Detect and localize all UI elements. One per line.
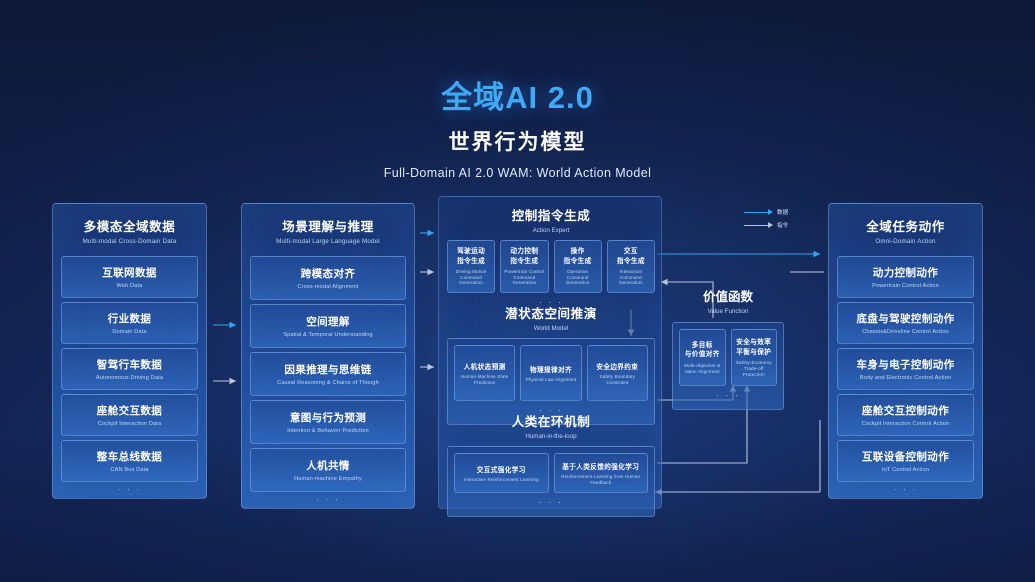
- card-subtitle: IoT Control Action: [882, 467, 929, 474]
- gray-arrow-icon: [744, 225, 772, 226]
- panel-header: 多模态全域数据 Multi-modal Cross-Domain Data: [53, 204, 206, 245]
- card-title: 整车总线数据: [97, 449, 162, 464]
- list-item[interactable]: 交互式强化学习 Interactive Reinforcement Learni…: [454, 453, 549, 493]
- list-item[interactable]: 操作 指令生成 Operation Command Generation: [554, 240, 602, 293]
- legend-item-instruction: 指令: [744, 221, 788, 229]
- value-function-box: 多目标 与价值对齐 Multi-objective & Value Alignm…: [672, 322, 784, 410]
- more-indicator: · · ·: [454, 498, 648, 507]
- card-title: 物理规律对齐: [530, 364, 572, 374]
- card-subtitle: Body and Electronic Control Action: [860, 375, 951, 382]
- block-subtitle: Human-in-the-loop: [447, 433, 655, 440]
- legend-item-data: 数据: [744, 208, 788, 216]
- list-item[interactable]: 车身与电子控制动作 Body and Electronic Control Ac…: [837, 348, 974, 390]
- card-subtitle: Safety-Economy Trade-off Protection: [734, 360, 775, 377]
- card-title: 交互式强化学习: [477, 464, 526, 474]
- card-title: 行业数据: [108, 311, 152, 326]
- more-indicator: · · ·: [242, 495, 414, 504]
- card-subtitle: Multi-objective & Value Alignment: [682, 363, 723, 374]
- card-subtitle: Interaction Command Generation: [610, 269, 652, 286]
- card-subtitle: Autonomous Driving Data: [96, 375, 163, 382]
- more-indicator: · · ·: [53, 485, 206, 494]
- data-card-list: 互联网数据 Web Data 行业数据 Domain Data 智驾行车数据 A…: [61, 256, 198, 482]
- card-subtitle: Spatial & Temporal Understanding: [283, 332, 373, 339]
- list-item[interactable]: 意图与行为预测 Intention & Behavior Prediction: [250, 400, 406, 444]
- block-title: 控制指令生成: [447, 205, 655, 224]
- card-subtitle: Cross-modal Alignment: [298, 284, 359, 291]
- list-item[interactable]: 安全与效率 平衡与保护 Safety-Economy Trade-off Pro…: [731, 329, 778, 386]
- list-item[interactable]: 人机状态预测 Human-Machine State Prediction: [454, 345, 515, 401]
- more-indicator: · · ·: [679, 391, 777, 400]
- action-card-list: 动力控制动作 Powertrain Control Action 底盘与驾驶控制…: [837, 256, 974, 482]
- card-subtitle: Domain Data: [112, 329, 146, 336]
- legend-label: 数据: [777, 208, 788, 216]
- list-item[interactable]: 座舱交互控制动作 Cockpit Interaction Control Act…: [837, 394, 974, 436]
- card-title: 操作 指令生成: [564, 247, 592, 266]
- card-title: 座舱交互数据: [97, 403, 162, 418]
- card-subtitle: Operation Command Generation: [557, 269, 599, 286]
- card-title: 座舱交互控制动作: [862, 403, 949, 418]
- more-indicator: · · ·: [829, 485, 982, 494]
- card-subtitle: Cockpit Interaction Control Action: [862, 421, 950, 428]
- block-subtitle: Action Expert: [447, 227, 655, 234]
- list-item[interactable]: 物理规律对齐 Physical Law Alignment: [520, 345, 581, 401]
- card-title: 基于人类反馈的强化学习: [562, 461, 639, 471]
- card-title: 动力控制动作: [873, 265, 938, 280]
- panel-multimodal-data: 多模态全域数据 Multi-modal Cross-Domain Data 互联…: [52, 203, 207, 499]
- card-subtitle: Driving Motion Command Generation: [450, 269, 492, 286]
- panel-header: 全域任务动作 Omni-Domain Action: [829, 204, 982, 245]
- card-subtitle: Reinforcement Learning from Human Feedba…: [557, 474, 646, 485]
- action-expert-cards: 驾驶运动 指令生成 Driving Motion Command Generat…: [447, 240, 655, 293]
- page-subtitle: 世界行为模型: [0, 126, 1035, 156]
- card-title: 互联网数据: [102, 265, 157, 280]
- title-block: 全域AI 2.0 世界行为模型 Full-Domain AI 2.0 WAM: …: [0, 72, 1035, 180]
- list-item[interactable]: 人机共情 Human-machine Empathy: [250, 448, 406, 492]
- card-title: 交互 指令生成: [617, 247, 645, 266]
- card-subtitle: Powertrain Control Action: [872, 283, 939, 290]
- list-item[interactable]: 动力控制动作 Powertrain Control Action: [837, 256, 974, 298]
- mllm-card-list: 跨模态对齐 Cross-modal Alignment 空间理解 Spatial…: [250, 256, 406, 492]
- card-title: 因果推理与思维链: [284, 362, 371, 377]
- legend-label: 指令: [777, 221, 788, 229]
- block-subtitle: World Model: [447, 325, 655, 332]
- list-item[interactable]: 动力控制 指令生成 Powertrain Control Command Gen…: [500, 240, 548, 293]
- human-loop-cards: 交互式强化学习 Interactive Reinforcement Learni…: [454, 453, 648, 493]
- card-title: 车身与电子控制动作: [856, 357, 954, 372]
- list-item[interactable]: 智驾行车数据 Autonomous Driving Data: [61, 348, 198, 390]
- card-subtitle: Powertrain Control Command Generation: [503, 269, 545, 286]
- panel-scene-understanding: 场景理解与推理 Multi-modal Large Language Model…: [241, 203, 415, 509]
- card-subtitle: Human-machine Empathy: [294, 476, 362, 483]
- blue-arrow-icon: [744, 212, 772, 213]
- list-item[interactable]: 驾驶运动 指令生成 Driving Motion Command Generat…: [447, 240, 495, 293]
- list-item[interactable]: 基于人类反馈的强化学习 Reinforcement Learning from …: [554, 453, 649, 493]
- panel-title: 场景理解与推理: [242, 216, 414, 235]
- block-human-in-loop: 人类在环机制 Human-in-the-loop 交互式强化学习 Interac…: [447, 411, 655, 517]
- list-item[interactable]: 互联设备控制动作 IoT Control Action: [837, 440, 974, 482]
- world-model-cards: 人机状态预测 Human-Machine State Prediction 物理…: [454, 345, 648, 401]
- card-title: 人机共情: [306, 458, 350, 473]
- panel-subtitle: Multi-modal Cross-Domain Data: [53, 238, 206, 245]
- slide-canvas: 全域AI 2.0 世界行为模型 Full-Domain AI 2.0 WAM: …: [0, 0, 1035, 582]
- card-title: 互联设备控制动作: [862, 449, 949, 464]
- block-title: 价值函数: [672, 286, 784, 305]
- card-title: 智驾行车数据: [97, 357, 162, 372]
- card-title: 驾驶运动 指令生成: [457, 247, 485, 266]
- list-item[interactable]: 座舱交互数据 Cockpit Interaction Data: [61, 394, 198, 436]
- card-subtitle: Web Data: [117, 283, 143, 290]
- card-title: 意图与行为预测: [290, 410, 366, 425]
- human-loop-box: 交互式强化学习 Interactive Reinforcement Learni…: [447, 446, 655, 517]
- block-subtitle: Value Function: [672, 308, 784, 315]
- card-title: 动力控制 指令生成: [510, 247, 538, 266]
- panel-title: 全域任务动作: [829, 216, 982, 235]
- list-item[interactable]: 空间理解 Spatial & Temporal Understanding: [250, 304, 406, 348]
- card-title: 安全与效率 平衡与保护: [736, 338, 771, 357]
- block-action-expert: 控制指令生成 Action Expert 驾驶运动 指令生成 Driving M…: [447, 205, 655, 307]
- panel-omni-domain-action: 全域任务动作 Omni-Domain Action 动力控制动作 Powertr…: [828, 203, 983, 499]
- card-title: 底盘与驾驶控制动作: [856, 311, 954, 326]
- card-subtitle: CAN Bus Data: [110, 467, 148, 474]
- page-title: 全域AI 2.0: [0, 72, 1035, 117]
- value-function-cards: 多目标 与价值对齐 Multi-objective & Value Alignm…: [679, 329, 777, 386]
- legend: 数据 指令: [744, 208, 788, 234]
- card-title: 跨模态对齐: [301, 266, 356, 281]
- card-title: 空间理解: [306, 314, 350, 329]
- card-title: 人机状态预测: [464, 361, 506, 371]
- list-item[interactable]: 互联网数据 Web Data: [61, 256, 198, 298]
- block-title: 人类在环机制: [447, 411, 655, 430]
- page-title-english: Full-Domain AI 2.0 WAM: World Action Mod…: [0, 166, 1035, 180]
- card-subtitle: Safety Boundary Constraint: [590, 374, 645, 385]
- list-item[interactable]: 底盘与驾驶控制动作 Chassis&Driveline Control Acti…: [837, 302, 974, 344]
- panel-wam-core: 控制指令生成 Action Expert 驾驶运动 指令生成 Driving M…: [438, 196, 662, 509]
- block-world-model: 潜状态空间推演 World Model 人机状态预测 Human-Machine…: [447, 303, 655, 425]
- panel-header: 场景理解与推理 Multi-modal Large Language Model: [242, 204, 414, 245]
- block-value-function: 价值函数 Value Function 多目标 与价值对齐 Multi-obje…: [672, 286, 784, 410]
- list-item[interactable]: 多目标 与价值对齐 Multi-objective & Value Alignm…: [679, 329, 726, 386]
- list-item[interactable]: 行业数据 Domain Data: [61, 302, 198, 344]
- card-subtitle: Causal Reasoning & Chains of Though: [277, 380, 379, 387]
- card-title: 多目标 与价值对齐: [685, 341, 720, 360]
- list-item[interactable]: 交互 指令生成 Interaction Command Generation: [607, 240, 655, 293]
- card-subtitle: Physical Law Alignment: [526, 377, 577, 383]
- card-title: 安全边界约束: [596, 361, 638, 371]
- card-subtitle: Chassis&Driveline Control Action: [862, 329, 949, 336]
- card-subtitle: Cockpit Interaction Data: [98, 421, 161, 428]
- card-subtitle: Interactive Reinforcement Learning: [464, 477, 539, 483]
- list-item[interactable]: 安全边界约束 Safety Boundary Constraint: [587, 345, 648, 401]
- panel-title: 多模态全域数据: [53, 216, 206, 235]
- list-item[interactable]: 整车总线数据 CAN Bus Data: [61, 440, 198, 482]
- card-subtitle: Human-Machine State Prediction: [457, 374, 512, 385]
- block-title: 潜状态空间推演: [447, 303, 655, 322]
- list-item[interactable]: 跨模态对齐 Cross-modal Alignment: [250, 256, 406, 300]
- panel-subtitle: Omni-Domain Action: [829, 238, 982, 245]
- list-item[interactable]: 因果推理与思维链 Causal Reasoning & Chains of Th…: [250, 352, 406, 396]
- panel-subtitle: Multi-modal Large Language Model: [242, 238, 414, 245]
- card-subtitle: Intention & Behavior Prediction: [287, 428, 368, 435]
